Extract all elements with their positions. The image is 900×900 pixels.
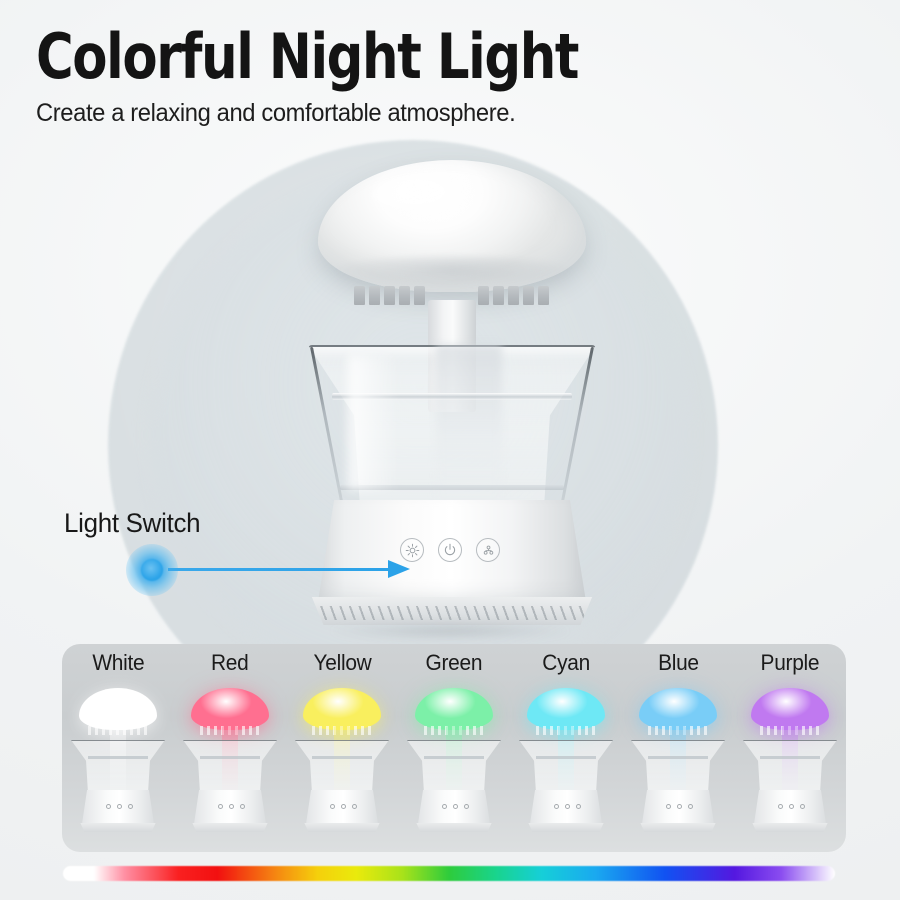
water-tank bbox=[308, 345, 596, 505]
callout-arrow-line bbox=[168, 568, 396, 571]
rain-nozzle-pin bbox=[414, 286, 425, 305]
product-ground-shadow bbox=[330, 622, 570, 640]
mini-control-icons bbox=[96, 804, 142, 810]
rainbow-gradient-bar bbox=[63, 866, 835, 881]
mini-control-icons bbox=[656, 804, 702, 810]
color-swatch-blue[interactable]: Blue bbox=[622, 644, 734, 852]
mini-product-illustration bbox=[626, 678, 730, 838]
mini-power-icon bbox=[565, 804, 570, 809]
color-swatch-panel: WhiteRedYellowGreenCyanBluePurple bbox=[62, 644, 846, 852]
mini-sun-icon bbox=[442, 804, 447, 809]
mini-control-icons bbox=[544, 804, 590, 810]
mini-sun-icon bbox=[554, 804, 559, 809]
page-subtitle: Create a relaxing and comfortable atmosp… bbox=[36, 99, 815, 128]
mini-mist-icon bbox=[688, 804, 693, 809]
mini-water-line bbox=[200, 756, 260, 759]
color-swatch-label: Cyan bbox=[542, 650, 590, 676]
sun-icon bbox=[405, 543, 420, 558]
color-swatch-label: Red bbox=[211, 650, 248, 676]
mini-power-icon bbox=[453, 804, 458, 809]
mini-product-illustration bbox=[178, 678, 282, 838]
rain-nozzle-pin bbox=[384, 286, 395, 305]
mini-water-line bbox=[648, 756, 708, 759]
mini-product-illustration bbox=[514, 678, 618, 838]
color-swatch-green[interactable]: Green bbox=[398, 644, 510, 852]
mist-icon bbox=[481, 543, 496, 558]
color-swatch-red[interactable]: Red bbox=[174, 644, 286, 852]
control-panel bbox=[400, 538, 500, 562]
mini-power-icon bbox=[117, 804, 122, 809]
rain-nozzle-pin bbox=[354, 286, 365, 305]
mini-vent-grille bbox=[302, 823, 382, 832]
product-illustration bbox=[290, 160, 610, 630]
color-swatch-label: Blue bbox=[658, 650, 699, 676]
color-swatch-label: Green bbox=[426, 650, 483, 676]
color-swatch-label: White bbox=[92, 650, 144, 676]
mini-vent-grille bbox=[78, 823, 158, 832]
rain-nozzle-pin bbox=[508, 286, 519, 305]
mini-mist-icon bbox=[576, 804, 581, 809]
mini-control-icons bbox=[208, 804, 254, 810]
base-vent-grille bbox=[306, 597, 598, 625]
mini-water-tank bbox=[631, 740, 725, 792]
rain-nozzle-pin bbox=[538, 286, 549, 305]
color-swatch-purple[interactable]: Purple bbox=[734, 644, 846, 852]
mini-power-icon bbox=[677, 804, 682, 809]
mini-water-tank bbox=[743, 740, 837, 792]
mini-water-line bbox=[88, 756, 148, 759]
mini-water-tank bbox=[407, 740, 501, 792]
mini-vent-grille bbox=[750, 823, 830, 832]
mini-product-illustration bbox=[290, 678, 394, 838]
rain-nozzle-pin bbox=[493, 286, 504, 305]
mini-water-tank bbox=[183, 740, 277, 792]
power-button[interactable] bbox=[438, 538, 462, 562]
mini-power-icon bbox=[229, 804, 234, 809]
mini-product-illustration bbox=[66, 678, 170, 838]
light-switch-label: Light Switch bbox=[64, 508, 200, 539]
color-swatch-label: Purple bbox=[761, 650, 820, 676]
mini-vent-grille bbox=[414, 823, 494, 832]
mini-water-tank bbox=[71, 740, 165, 792]
light-switch-glow-core bbox=[141, 559, 163, 581]
mini-sun-icon bbox=[666, 804, 671, 809]
mini-mist-icon bbox=[352, 804, 357, 809]
mini-sun-icon bbox=[330, 804, 335, 809]
header: Colorful Night Light Create a relaxing a… bbox=[36, 24, 856, 128]
mini-water-tank bbox=[519, 740, 613, 792]
mini-control-icons bbox=[768, 804, 814, 810]
rain-nozzle-pin bbox=[523, 286, 534, 305]
vent-slots bbox=[306, 606, 598, 620]
rain-nozzle-pin bbox=[399, 286, 410, 305]
mini-mist-icon bbox=[128, 804, 133, 809]
mini-product-illustration bbox=[402, 678, 506, 838]
mini-vent-grille bbox=[190, 823, 270, 832]
mini-vent-grille bbox=[526, 823, 606, 832]
color-swatch-yellow[interactable]: Yellow bbox=[286, 644, 398, 852]
color-swatch-white[interactable]: White bbox=[62, 644, 174, 852]
mini-sun-icon bbox=[778, 804, 783, 809]
page-title: Colorful Night Light bbox=[36, 24, 790, 89]
light-mode-button[interactable] bbox=[400, 538, 424, 562]
mini-mist-icon bbox=[800, 804, 805, 809]
mist-button[interactable] bbox=[476, 538, 500, 562]
mini-water-line bbox=[536, 756, 596, 759]
mist-column bbox=[436, 345, 502, 505]
cloud-cap bbox=[318, 160, 586, 300]
mini-mist-icon bbox=[240, 804, 245, 809]
mini-water-line bbox=[424, 756, 484, 759]
mini-power-icon bbox=[789, 804, 794, 809]
mini-water-line bbox=[312, 756, 372, 759]
mini-product-illustration bbox=[738, 678, 842, 838]
mini-vent-grille bbox=[638, 823, 718, 832]
product-feature-image: Colorful Night Light Create a relaxing a… bbox=[0, 0, 900, 900]
rain-nozzle-pin bbox=[478, 286, 489, 305]
color-swatch-label: Yellow bbox=[313, 650, 371, 676]
mini-control-icons bbox=[432, 804, 478, 810]
mini-power-icon bbox=[341, 804, 346, 809]
mini-sun-icon bbox=[106, 804, 111, 809]
power-icon bbox=[443, 543, 457, 557]
mini-water-line bbox=[760, 756, 820, 759]
rain-nozzle-pin bbox=[369, 286, 380, 305]
mini-control-icons bbox=[320, 804, 366, 810]
mini-mist-icon bbox=[464, 804, 469, 809]
tank-highlight bbox=[348, 355, 396, 490]
color-swatch-row: WhiteRedYellowGreenCyanBluePurple bbox=[62, 644, 846, 852]
mini-water-tank bbox=[295, 740, 389, 792]
color-swatch-cyan[interactable]: Cyan bbox=[510, 644, 622, 852]
callout-arrow-head-icon bbox=[388, 560, 410, 578]
mini-sun-icon bbox=[218, 804, 223, 809]
cloud-cap-shadow bbox=[332, 256, 572, 290]
